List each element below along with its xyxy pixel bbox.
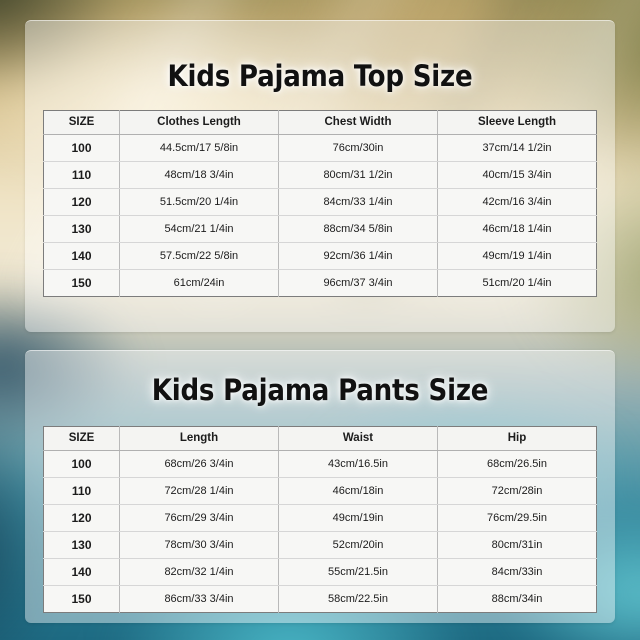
- cell-chest-width: 76cm/30in: [279, 135, 438, 162]
- cell-size: 140: [44, 243, 120, 270]
- cell-length: 82cm/32 1/4in: [120, 559, 279, 586]
- cell-chest-width: 92cm/36 1/4in: [279, 243, 438, 270]
- cell-clothes-length: 48cm/18 3/4in: [120, 162, 279, 189]
- cell-waist: 52cm/20in: [279, 532, 438, 559]
- cell-length: 78cm/30 3/4in: [120, 532, 279, 559]
- cell-size: 100: [44, 451, 120, 478]
- cell-sleeve-length: 51cm/20 1/4in: [438, 270, 597, 297]
- cell-hip: 68cm/26.5in: [438, 451, 597, 478]
- cell-hip: 80cm/31in: [438, 532, 597, 559]
- table-row: 110 72cm/28 1/4in 46cm/18in 72cm/28in: [44, 478, 597, 505]
- cell-clothes-length: 54cm/21 1/4in: [120, 216, 279, 243]
- table-row: 130 54cm/21 1/4in 88cm/34 5/8in 46cm/18 …: [44, 216, 597, 243]
- table-row: 120 51.5cm/20 1/4in 84cm/33 1/4in 42cm/1…: [44, 189, 597, 216]
- pajama-top-size-panel: Kids Pajama Top Size SIZE Clothes Length…: [25, 20, 615, 332]
- cell-hip: 72cm/28in: [438, 478, 597, 505]
- cell-size: 140: [44, 559, 120, 586]
- cell-chest-width: 96cm/37 3/4in: [279, 270, 438, 297]
- column-header-sleeve-length: Sleeve Length: [438, 111, 597, 135]
- table-row: 130 78cm/30 3/4in 52cm/20in 80cm/31in: [44, 532, 597, 559]
- cell-clothes-length: 61cm/24in: [120, 270, 279, 297]
- cell-sleeve-length: 46cm/18 1/4in: [438, 216, 597, 243]
- cell-sleeve-length: 40cm/15 3/4in: [438, 162, 597, 189]
- table-row: 150 61cm/24in 96cm/37 3/4in 51cm/20 1/4i…: [44, 270, 597, 297]
- cell-sleeve-length: 37cm/14 1/2in: [438, 135, 597, 162]
- table-row: 150 86cm/33 3/4in 58cm/22.5in 88cm/34in: [44, 586, 597, 613]
- cell-size: 150: [44, 586, 120, 613]
- cell-hip: 88cm/34in: [438, 586, 597, 613]
- cell-length: 68cm/26 3/4in: [120, 451, 279, 478]
- cell-waist: 43cm/16.5in: [279, 451, 438, 478]
- column-header-size: SIZE: [44, 427, 120, 451]
- table-row: 140 82cm/32 1/4in 55cm/21.5in 84cm/33in: [44, 559, 597, 586]
- column-header-clothes-length: Clothes Length: [120, 111, 279, 135]
- pajama-top-size-table: SIZE Clothes Length Chest Width Sleeve L…: [43, 110, 597, 297]
- pajama-pants-size-title: Kids Pajama Pants Size: [25, 351, 615, 407]
- cell-size: 130: [44, 216, 120, 243]
- cell-waist: 46cm/18in: [279, 478, 438, 505]
- cell-clothes-length: 44.5cm/17 5/8in: [120, 135, 279, 162]
- table-header-row: SIZE Length Waist Hip: [44, 427, 597, 451]
- cell-waist: 55cm/21.5in: [279, 559, 438, 586]
- pajama-top-size-title: Kids Pajama Top Size: [25, 21, 615, 93]
- cell-chest-width: 84cm/33 1/4in: [279, 189, 438, 216]
- column-header-length: Length: [120, 427, 279, 451]
- cell-size: 150: [44, 270, 120, 297]
- cell-length: 86cm/33 3/4in: [120, 586, 279, 613]
- cell-chest-width: 80cm/31 1/2in: [279, 162, 438, 189]
- table-row: 100 44.5cm/17 5/8in 76cm/30in 37cm/14 1/…: [44, 135, 597, 162]
- cell-size: 100: [44, 135, 120, 162]
- table-header-row: SIZE Clothes Length Chest Width Sleeve L…: [44, 111, 597, 135]
- column-header-waist: Waist: [279, 427, 438, 451]
- cell-size: 130: [44, 532, 120, 559]
- cell-length: 72cm/28 1/4in: [120, 478, 279, 505]
- table-row: 120 76cm/29 3/4in 49cm/19in 76cm/29.5in: [44, 505, 597, 532]
- table-row: 140 57.5cm/22 5/8in 92cm/36 1/4in 49cm/1…: [44, 243, 597, 270]
- column-header-hip: Hip: [438, 427, 597, 451]
- cell-size: 120: [44, 189, 120, 216]
- pajama-pants-size-panel: Kids Pajama Pants Size SIZE Length Waist…: [25, 350, 615, 623]
- cell-waist: 49cm/19in: [279, 505, 438, 532]
- column-header-size: SIZE: [44, 111, 120, 135]
- cell-clothes-length: 51.5cm/20 1/4in: [120, 189, 279, 216]
- cell-size: 110: [44, 478, 120, 505]
- column-header-chest-width: Chest Width: [279, 111, 438, 135]
- cell-waist: 58cm/22.5in: [279, 586, 438, 613]
- table-row: 100 68cm/26 3/4in 43cm/16.5in 68cm/26.5i…: [44, 451, 597, 478]
- cell-length: 76cm/29 3/4in: [120, 505, 279, 532]
- cell-size: 110: [44, 162, 120, 189]
- cell-hip: 76cm/29.5in: [438, 505, 597, 532]
- cell-chest-width: 88cm/34 5/8in: [279, 216, 438, 243]
- cell-sleeve-length: 42cm/16 3/4in: [438, 189, 597, 216]
- cell-hip: 84cm/33in: [438, 559, 597, 586]
- pajama-pants-size-table: SIZE Length Waist Hip 100 68cm/26 3/4in …: [43, 426, 597, 613]
- cell-sleeve-length: 49cm/19 1/4in: [438, 243, 597, 270]
- cell-size: 120: [44, 505, 120, 532]
- cell-clothes-length: 57.5cm/22 5/8in: [120, 243, 279, 270]
- table-row: 110 48cm/18 3/4in 80cm/31 1/2in 40cm/15 …: [44, 162, 597, 189]
